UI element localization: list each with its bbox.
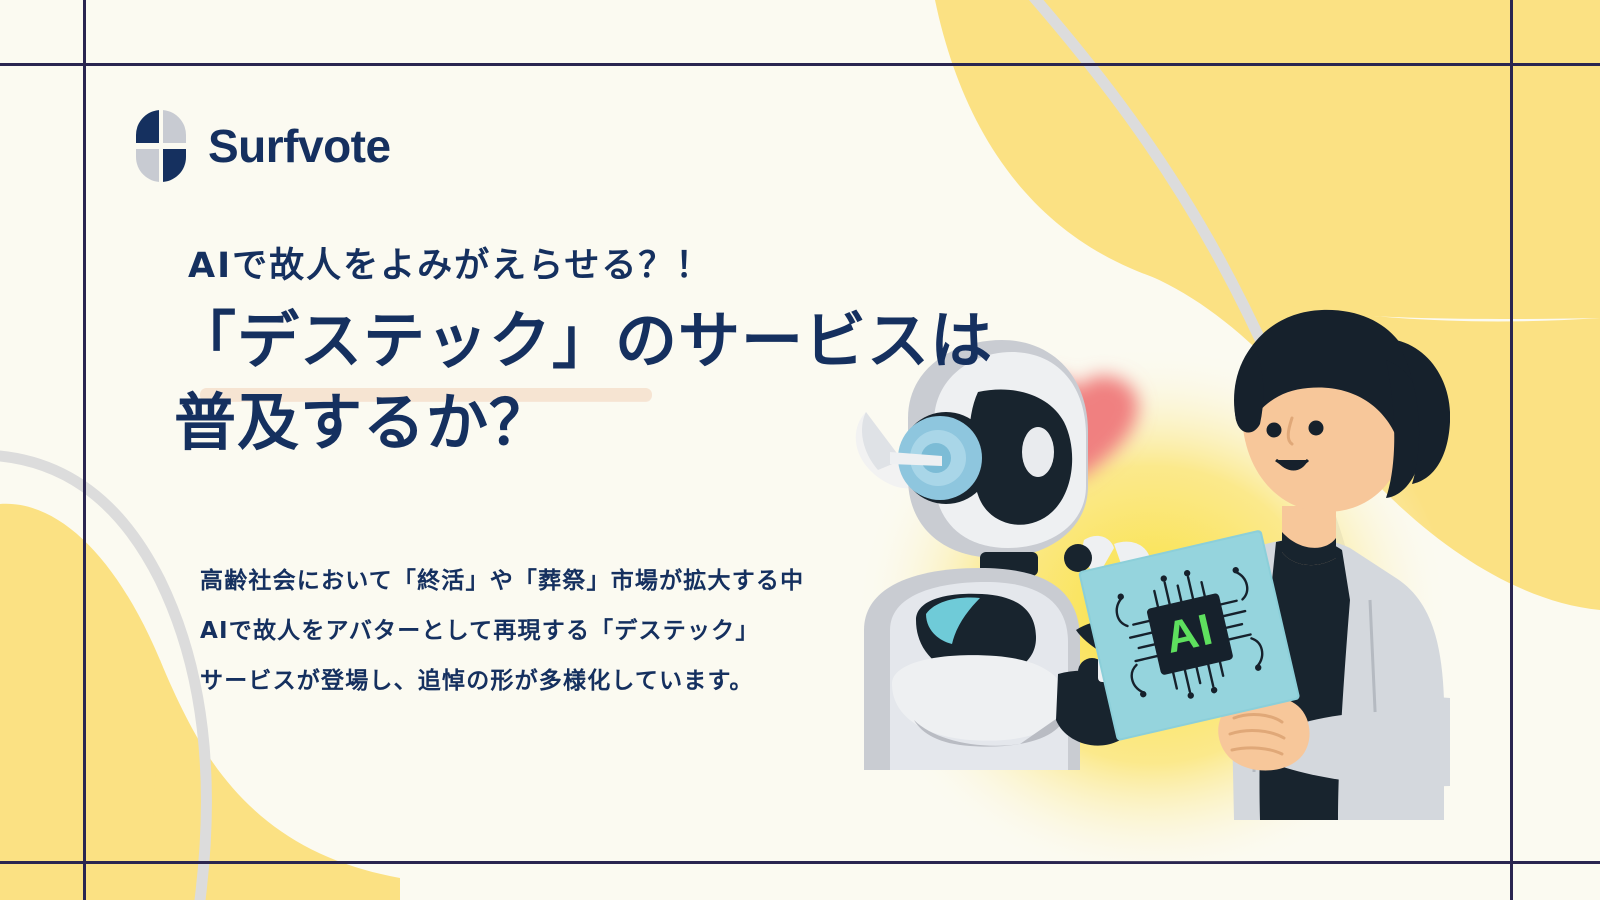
brand-wordmark: Surfvote <box>208 123 391 169</box>
headline-line-2: 普及するか？ <box>174 386 552 459</box>
surfvote-quadrant-mark-icon <box>136 110 186 182</box>
hero-eyebrow: AIで故人をよみがえらせる？！ <box>188 246 1288 286</box>
hero-lede: 高齢社会において「終活」や「葬祭」市場が拡大する中 AIで故人をアバターとして再… <box>200 556 804 706</box>
hero-lede-line-2: AIで故人をアバターとして再現する「デステック」 <box>200 606 804 656</box>
frame-line-vertical-right <box>1510 0 1513 900</box>
frame-line-horizontal-top <box>0 63 1600 66</box>
hero-copy: AIで故人をよみがえらせる？！ 「デステック」のサービスは 普及するか？ <box>188 246 1288 464</box>
frame-line-vertical-left <box>83 0 86 900</box>
hero-banner: AI Surfvote AIで故人をよみがえらせる？！ <box>0 0 1600 900</box>
hero-lede-line-1: 高齢社会において「終活」や「葬祭」市場が拡大する中 <box>200 556 804 606</box>
eye-right <box>1309 421 1324 436</box>
hero-headline: 「デステック」のサービスは 普及するか？ <box>174 300 1288 464</box>
hero-lede-line-3: サービスが登場し、追悼の形が多様化しています。 <box>200 656 804 706</box>
brand-logo[interactable]: Surfvote <box>136 110 391 182</box>
headline-line-1: 「デステック」のサービスは <box>174 304 993 377</box>
